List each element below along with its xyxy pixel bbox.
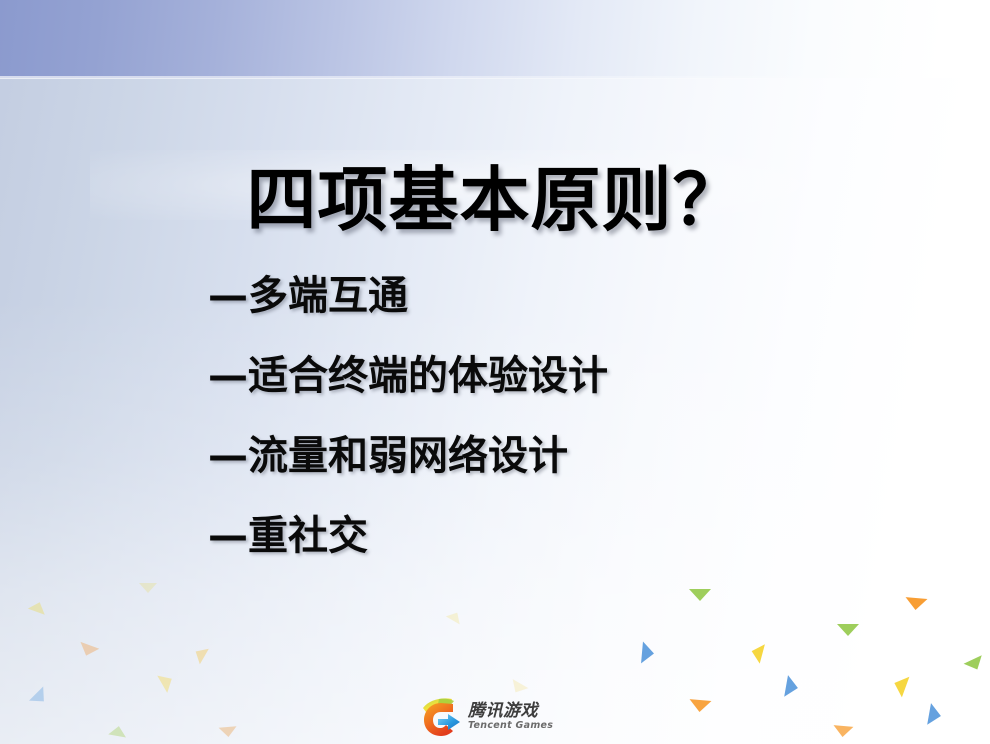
decorative-triangle xyxy=(833,725,854,738)
decorative-triangle xyxy=(641,642,655,665)
bullet-item-4: —重社交 xyxy=(208,516,948,556)
logo-chinese-name: 腾讯游戏 xyxy=(468,703,553,721)
presentation-slide: 四项基本原则？ —多端互通 —适合终端的体验设计 —流量和弱网络设计 —重社交 xyxy=(0,0,990,744)
bullet-item-2: —适合终端的体验设计 xyxy=(208,356,948,396)
slide-title: 四项基本原则？ xyxy=(0,165,990,235)
slide-bullet-list: —多端互通 —适合终端的体验设计 —流量和弱网络设计 —重社交 xyxy=(208,276,948,556)
decorative-triangle xyxy=(689,589,711,601)
tencent-games-logo-text: 腾讯游戏 Tencent Games xyxy=(468,701,553,731)
decorative-triangle xyxy=(837,624,859,636)
tencent-games-logo: 腾讯游戏 Tencent Games xyxy=(419,694,571,738)
logo-english-name: Tencent Games xyxy=(468,721,553,731)
bullet-item-3: —流量和弱网络设计 xyxy=(208,436,948,476)
bullet-item-1: —多端互通 xyxy=(208,276,948,316)
decorative-triangle xyxy=(689,699,712,713)
decorative-triangle xyxy=(139,583,157,593)
slide-top-band-edge xyxy=(0,76,990,79)
tencent-games-logo-mark-icon xyxy=(419,695,463,737)
decorative-triangle xyxy=(905,597,928,611)
slide-top-color-band xyxy=(0,0,990,78)
decorative-triangle xyxy=(219,726,238,738)
